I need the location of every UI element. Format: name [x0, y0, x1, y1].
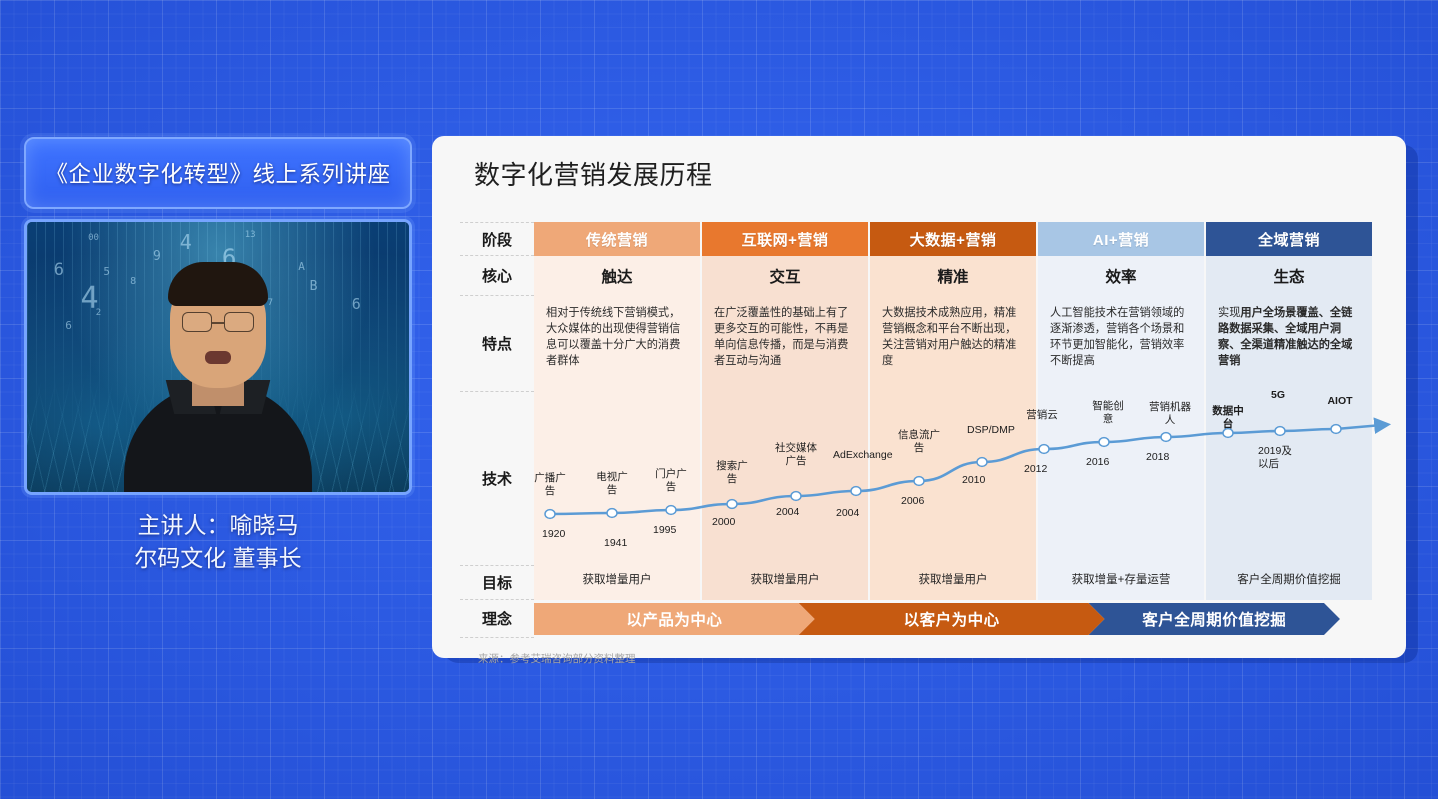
row-label-goal: 目标 [460, 566, 534, 600]
presenter-video-feed[interactable]: 00 4 13 9 6 4 6 A B 6 5 8 6 2 7 [24, 219, 412, 495]
matrix-row-concept: 理念 以产品为中心以客户为中心客户全周期价值挖掘 [460, 600, 1372, 638]
timeline-label: 电视广告 [595, 471, 629, 497]
lecture-title-text: 《企业数字化转型》线上系列讲座 [45, 157, 390, 189]
timeline-year: 2016 [1086, 456, 1114, 469]
timeline-year: 2004 [776, 506, 804, 519]
timeline-year: 1995 [653, 524, 681, 537]
left-panel: 《企业数字化转型》线上系列讲座 00 4 13 9 6 4 6 A B 6 5 … [24, 137, 412, 575]
goal-value-1: 获取增量用户 [534, 566, 700, 600]
timeline-label: 社交媒体广告 [775, 442, 817, 468]
feature-text-5: 实现用户全场景覆盖、全链路数据采集、全域用户洞察、全渠道精准触达的全域营销 [1204, 296, 1372, 392]
core-value-2: 交互 [700, 256, 868, 296]
core-cells: 触达交互精准效率生态 [534, 256, 1372, 296]
timeline-label: 数据中台 [1211, 405, 1245, 431]
timeline-label: 营销云 [1025, 409, 1059, 422]
concept-chevron-3: 客户全周期价值挖掘 [1089, 603, 1340, 635]
timeline-year: 2018 [1146, 451, 1174, 464]
source-note: 来源：参考艾瑞咨询部分资料整理 [446, 638, 1392, 666]
timeline-year: 1920 [542, 528, 570, 541]
timeline-label: 广播广告 [533, 472, 567, 498]
timeline-year: 2000 [712, 516, 740, 529]
row-label-features: 特点 [460, 296, 534, 392]
stage-header-5: 全域营销 [1204, 222, 1372, 256]
matrix-row-core: 核心 触达交互精准效率生态 [460, 256, 1372, 296]
timeline-marker [791, 492, 801, 501]
speaker-affiliation: 尔码文化 董事长 [24, 542, 412, 575]
timeline-marker [666, 506, 676, 515]
timeline-label: 门户广告 [654, 468, 688, 494]
feature-text-4: 人工智能技术在营销领域的逐渐渗透，营销各个场景和环节更加智能化，营销效率不断提高 [1036, 296, 1204, 392]
stage-header-1: 传统营销 [534, 222, 700, 256]
timeline-label: 营销机器人 [1149, 401, 1191, 427]
stage-header-4: AI+营销 [1036, 222, 1204, 256]
timeline-label: DSP/DMP [967, 424, 1009, 437]
goal-value-3: 获取增量用户 [868, 566, 1036, 600]
row-label-technology: 技术 [460, 392, 534, 566]
feature-cells: 相对于传统线下营销模式，大众媒体的出现使得营销信息可以覆盖十分广大的消费者群体在… [534, 296, 1372, 392]
timeline-label: 信息流广告 [898, 429, 940, 455]
timeline-marker [1275, 427, 1285, 436]
goal-value-5: 客户全周期价值挖掘 [1204, 566, 1372, 600]
timeline-year: 1941 [604, 537, 632, 550]
speaker-name: 主讲人：喻晓马 [24, 509, 412, 542]
stage-header-3: 大数据+营销 [868, 222, 1036, 256]
timeline-year: 2006 [901, 495, 929, 508]
core-value-4: 效率 [1036, 256, 1204, 296]
core-value-1: 触达 [534, 256, 700, 296]
matrix-row-features: 特点 相对于传统线下营销模式，大众媒体的出现使得营销信息可以覆盖十分广大的消费者… [460, 296, 1372, 392]
core-value-5: 生态 [1204, 256, 1372, 296]
timeline-marker [727, 500, 737, 509]
timeline-year: 2010 [962, 474, 990, 487]
timeline-marker [545, 510, 555, 519]
core-value-3: 精准 [868, 256, 1036, 296]
timeline-marker [1161, 433, 1171, 442]
stage-header-cells: 传统营销互联网+营销大数据+营销AI+营销全域营销 [534, 222, 1372, 256]
matrix-row-stage: 阶段 传统营销互联网+营销大数据+营销AI+营销全域营销 [460, 222, 1372, 256]
row-label-stage: 阶段 [460, 222, 534, 256]
timeline-marker [1039, 445, 1049, 454]
feature-text-3: 大数据技术成熟应用，精准营销概念和平台不断出现，关注营销对用户触达的精准度 [868, 296, 1036, 392]
timeline-label: 搜索广告 [715, 460, 749, 486]
timeline-marker [851, 487, 861, 496]
stage-header-2: 互联网+营销 [700, 222, 868, 256]
evolution-matrix: 阶段 传统营销互联网+营销大数据+营销AI+营销全域营销 核心 触达交互精准效率… [446, 222, 1392, 638]
feature-text-2: 在广泛覆盖性的基础上有了更多交互的可能性，不再是单向信息传播，而是与消费者互动与… [700, 296, 868, 392]
concept-chevron-1: 以产品为中心 [534, 603, 815, 635]
timeline-label: AIOT [1323, 395, 1357, 408]
slide-card: 数字化营销发展历程 阶段 传统营销互联网+营销大数据+营销AI+营销全域营销 核… [432, 136, 1406, 658]
timeline-marker [977, 458, 987, 467]
technology-timeline-chart: 广播广告1920电视广告1941门户广告1995搜索广告2000社交媒体广告20… [534, 392, 1372, 566]
goal-value-2: 获取增量用户 [700, 566, 868, 600]
feature-text-1: 相对于传统线下营销模式，大众媒体的出现使得营销信息可以覆盖十分广大的消费者群体 [534, 296, 700, 392]
row-label-core: 核心 [460, 256, 534, 296]
timeline-marker [1331, 425, 1341, 434]
matrix-row-technology: 技术 广播广告1920电视广告1941门户广告1995搜索广告2000社交媒体广… [460, 392, 1372, 566]
timeline-year: 2019及以后 [1258, 445, 1298, 471]
matrix-row-goal: 目标 获取增量用户获取增量用户获取增量用户获取增量+存量运营客户全周期价值挖掘 [460, 566, 1372, 600]
goal-value-4: 获取增量+存量运营 [1036, 566, 1204, 600]
timeline-marker [914, 477, 924, 486]
speaker-info: 主讲人：喻晓马 尔码文化 董事长 [24, 509, 412, 575]
timeline-year: 2004 [836, 507, 864, 520]
timeline-marker [1099, 438, 1109, 447]
timeline-label: 智能创意 [1091, 400, 1125, 426]
presenter-figure [27, 222, 409, 492]
concept-chevron-bar: 以产品为中心以客户为中心客户全周期价值挖掘 [534, 603, 1372, 635]
timeline-label: AdExchange [833, 449, 875, 462]
timeline-label: 5G [1261, 389, 1295, 402]
goal-cells: 获取增量用户获取增量用户获取增量用户获取增量+存量运营客户全周期价值挖掘 [534, 566, 1372, 600]
concept-chevron-2: 以客户为中心 [799, 603, 1105, 635]
timeline-year: 2012 [1024, 463, 1052, 476]
page-title: 数字化营销发展历程 [446, 146, 1392, 204]
timeline-marker [607, 509, 617, 518]
row-label-concept: 理念 [460, 600, 534, 638]
lecture-title-banner: 《企业数字化转型》线上系列讲座 [24, 137, 412, 209]
